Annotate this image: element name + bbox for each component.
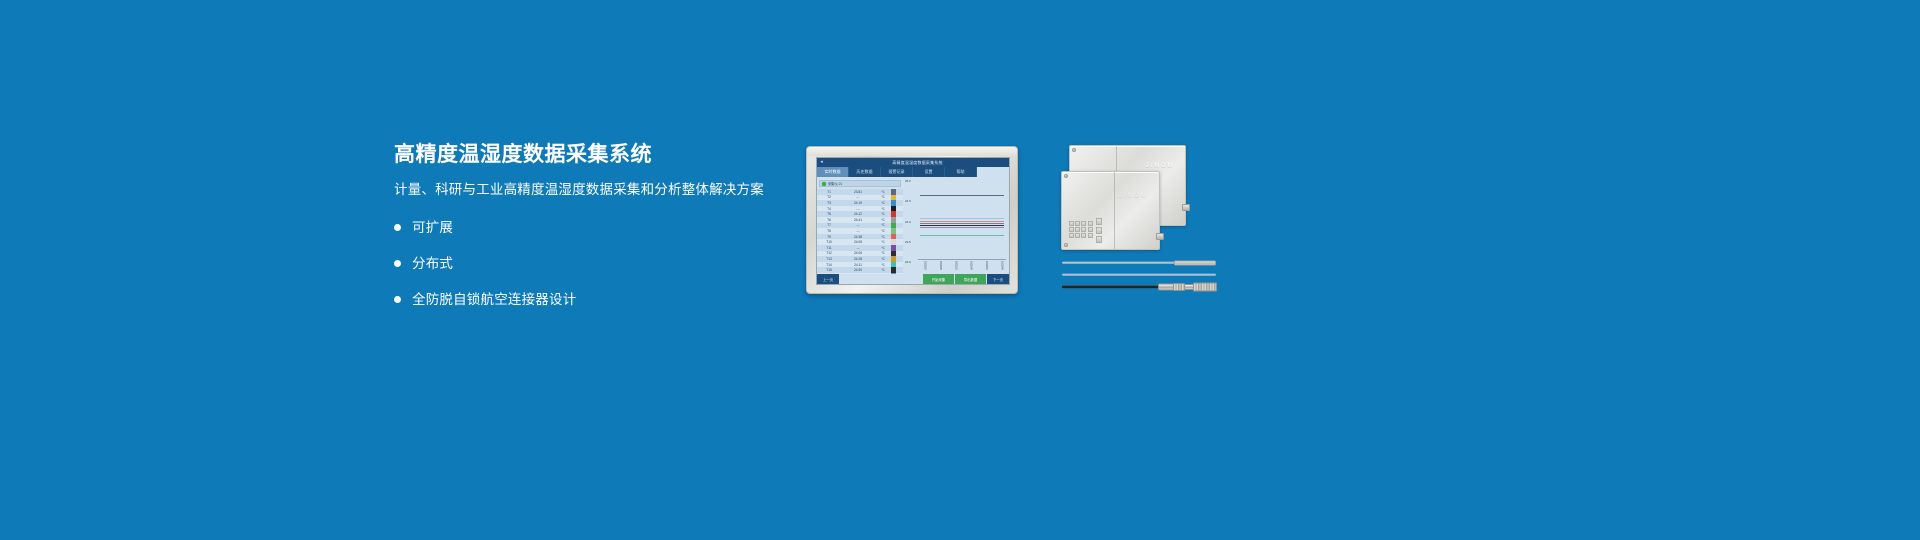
cell-channel: T7 [817, 223, 841, 227]
tab-settings[interactable]: 设置 [913, 167, 945, 177]
cell-channel: T15 [817, 268, 841, 272]
trend-line [920, 221, 1004, 222]
chart-x-axis: 10:20:1010:20:4010:21:1010:21:4010:22:10… [918, 259, 1006, 274]
screw-icon [1064, 243, 1068, 247]
cell-value: 23.81 [841, 190, 875, 194]
cable-gland-icon [1156, 233, 1164, 240]
cell-channel: T13 [817, 257, 841, 261]
cell-value: --- [841, 223, 875, 227]
status-led-icon [822, 182, 826, 186]
cell-channel: T5 [817, 212, 841, 216]
cell-value: --- [841, 246, 875, 250]
cell-channel: T2 [817, 195, 841, 199]
cell-unit: ℃ [875, 235, 891, 239]
port-cell [1075, 227, 1080, 232]
bullet-dot-icon [394, 296, 401, 303]
port-column [1096, 218, 1102, 245]
cell-unit: ℃ [875, 240, 891, 244]
chart-y-axis: 25.024.524.023.523.0 [905, 179, 918, 260]
device-screen: ◂ 高精度温湿度数据采集系统 实时数据 历史数据 报警记录 设置 帮助 采集仪-… [816, 157, 1010, 285]
brand-logo: JINON [1146, 163, 1174, 169]
tab-alarms[interactable]: 报警记录 [881, 167, 913, 177]
screen-titlebar: ◂ 高精度温湿度数据采集系统 [817, 158, 1009, 167]
port-cell [1069, 233, 1074, 238]
x-tick-label: 10:20:40 [939, 261, 942, 270]
probe-cable [1062, 285, 1162, 288]
cell-unit: ℃ [875, 229, 891, 233]
cell-value: --- [841, 207, 875, 211]
port-slot [1096, 227, 1102, 234]
screw-icon [1072, 148, 1076, 152]
module-seam [1114, 172, 1115, 249]
screen-body: 采集仪-01 T123.81℃T2---℃T324.19℃T4---℃T524.… [817, 177, 1009, 274]
port-cell [1075, 221, 1080, 226]
page-title: 高精度温湿度数据采集系统 [394, 142, 814, 167]
port-cell [1081, 227, 1086, 232]
x-tick-label: 10:20:10 [923, 261, 926, 270]
cell-value: 24.41 [841, 218, 875, 222]
cell-channel: T8 [817, 229, 841, 233]
port-cell [1088, 221, 1093, 226]
port-cell [1081, 221, 1086, 226]
cell-value: 24.06 [841, 251, 875, 255]
y-tick-label: 25.0 [905, 179, 911, 183]
copy-block: 高精度温湿度数据采集系统 计量、科研与工业高精度温湿度数据采集和分析整体解决方案… [394, 142, 814, 323]
y-tick-label: 24.0 [905, 220, 911, 224]
hardware-group: JINON JINON [1060, 142, 1220, 302]
screen-tabbar: 实时数据 历史数据 报警记录 设置 帮助 [817, 167, 1009, 177]
cell-value: 24.28 [841, 257, 875, 261]
port-cell [1069, 221, 1074, 226]
screen-title: 高精度温湿度数据采集系统 [826, 158, 1009, 167]
device-selector[interactable]: 采集仪-01 [819, 180, 901, 187]
feature-label: 全防脱自锁航空连接器设计 [412, 293, 576, 307]
screw-icon [1064, 174, 1068, 178]
cell-unit: ℃ [875, 212, 891, 216]
y-tick-label: 23.0 [905, 260, 911, 264]
probe-shaft [1062, 262, 1180, 264]
device-name: 采集仪-01 [828, 181, 842, 186]
cell-value: 24.19 [841, 201, 875, 205]
trend-chart[interactable]: 25.024.524.023.523.0 10:20:1010:20:4010:… [903, 177, 1009, 274]
channel-table: 采集仪-01 T123.81℃T2---℃T324.19℃T4---℃T524.… [817, 177, 903, 274]
x-tick-label: 10:22:40 [1001, 261, 1004, 270]
trend-line [920, 218, 1004, 219]
cell-channel: T3 [817, 201, 841, 205]
cell-value: 24.90 [841, 268, 875, 272]
x-tick-label: 10:21:40 [970, 261, 973, 270]
cell-value: 24.08 [841, 240, 875, 244]
next-page-button[interactable]: 下一页 [987, 274, 1009, 284]
y-tick-label: 23.5 [905, 240, 911, 244]
tab-history[interactable]: 历史数据 [849, 167, 881, 177]
cell-unit: ℃ [875, 268, 891, 272]
cell-channel: T1 [817, 190, 841, 194]
cell-unit: ℃ [875, 195, 891, 199]
prev-page-button[interactable]: 上一页 [817, 274, 839, 284]
cell-unit: ℃ [875, 251, 891, 255]
cell-unit: ℃ [875, 257, 891, 261]
port-slot [1096, 236, 1102, 243]
export-data-button[interactable]: 导出数据 [955, 274, 987, 284]
cell-unit: ℃ [875, 218, 891, 222]
sensor-head [1193, 282, 1217, 291]
panel-pc-device: ◂ 高精度温湿度数据采集系统 实时数据 历史数据 报警记录 设置 帮助 采集仪-… [806, 146, 1018, 294]
probe-blue-cable [1062, 272, 1214, 277]
port-cell [1069, 227, 1074, 232]
cell-unit: ℃ [875, 263, 891, 267]
probe-tip [1174, 261, 1216, 266]
bullet-dot-icon [394, 260, 401, 267]
probe-aviation-connector [1062, 282, 1214, 291]
tab-help[interactable]: 帮助 [945, 167, 977, 177]
x-tick-label: 10:21:10 [954, 261, 957, 270]
cell-channel: T9 [817, 235, 841, 239]
cell-channel: T14 [817, 263, 841, 267]
cell-channel: T6 [817, 218, 841, 222]
start-capture-button[interactable]: 开始采集 [923, 274, 955, 284]
trend-line [920, 235, 1004, 236]
trend-line [920, 225, 1004, 226]
cell-value: --- [841, 229, 875, 233]
footer-spacer [839, 274, 923, 284]
cell-value: --- [841, 195, 875, 199]
port-cell [1081, 233, 1086, 238]
list-item: 分布式 [394, 251, 814, 277]
acquisition-module-front: JINON [1061, 171, 1160, 250]
screen-footer: 上一页 开始采集 导出数据 下一页 [817, 274, 1009, 284]
cell-channel: T4 [817, 207, 841, 211]
cell-channel: T11 [817, 246, 841, 250]
cell-unit: ℃ [875, 190, 891, 194]
x-tick-label: 10:22:10 [985, 261, 988, 270]
cell-unit: ℃ [875, 223, 891, 227]
port-cell [1088, 227, 1093, 232]
probe-shaft [1062, 273, 1216, 275]
cell-value: 24.12 [841, 212, 875, 216]
cell-value: 24.38 [841, 235, 875, 239]
port-cell [1088, 233, 1093, 238]
port-grid [1069, 221, 1093, 238]
back-arrow-icon[interactable]: ◂ [817, 158, 826, 167]
cell-unit: ℃ [875, 246, 891, 250]
connector-ports [1069, 217, 1109, 243]
product-banner: 高精度温湿度数据采集系统 计量、科研与工业高精度温湿度数据采集和分析整体解决方案… [0, 0, 1920, 540]
chart-plot-area [918, 179, 1006, 260]
feature-label: 可扩展 [412, 221, 453, 235]
feature-label: 分布式 [412, 257, 453, 271]
cell-channel: T10 [817, 240, 841, 244]
brand-logo: JINON [1119, 193, 1147, 199]
cable-gland-icon [1182, 204, 1190, 211]
panel-bezel [807, 147, 1017, 156]
tabbar-filler [977, 167, 1009, 177]
cell-unit: ℃ [875, 201, 891, 205]
page-subtitle: 计量、科研与工业高精度温湿度数据采集和分析整体解决方案 [394, 181, 814, 199]
cell-unit: ℃ [875, 207, 891, 211]
y-tick-label: 24.5 [905, 199, 911, 203]
port-cell [1075, 233, 1080, 238]
feature-list: 可扩展 分布式 全防脱自锁航空连接器设计 [394, 215, 814, 313]
bullet-dot-icon [394, 224, 401, 231]
cell-channel: T12 [817, 251, 841, 255]
cell-value: 24.11 [841, 263, 875, 267]
probe-steel [1062, 260, 1214, 266]
port-slot [1096, 218, 1102, 225]
trend-line [920, 227, 1004, 228]
list-item: 可扩展 [394, 215, 814, 241]
list-item: 全防脱自锁航空连接器设计 [394, 287, 814, 313]
channel-rows: T123.81℃T2---℃T324.19℃T4---℃T524.12℃T624… [817, 189, 903, 279]
connector-body [1158, 283, 1174, 290]
tab-realtime[interactable]: 实时数据 [817, 167, 849, 177]
trend-line [920, 195, 1004, 196]
